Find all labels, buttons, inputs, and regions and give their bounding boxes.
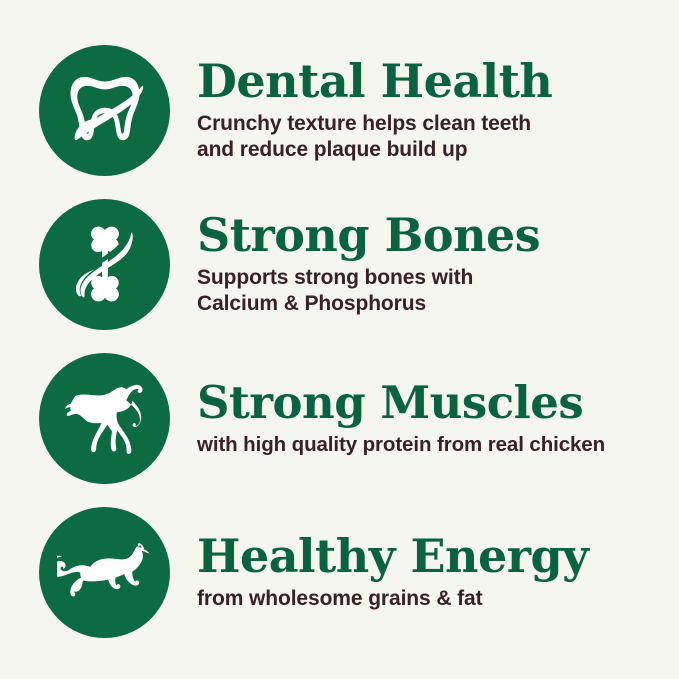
benefit-title: Strong Muscles [197,379,669,427]
benefit-description-line: from wholesome grains & fat [197,586,669,612]
benefit-description-line: and reduce plaque build up [197,137,669,163]
benefit-title: Healthy Energy [197,532,669,581]
tooth-leaf-icon [63,68,147,152]
tooth-leaf-icon-badge [39,45,170,176]
benefit-description: Crunchy texture helps clean teeth and re… [197,111,669,164]
benefit-text-strong-muscles: Strong Muscles with high quality protein… [197,379,679,457]
benefit-description-line: Crunchy texture helps clean teeth [197,111,669,137]
benefits-panel: Dental Health Crunchy texture helps clea… [0,0,679,679]
standing-dog-icon-badge [39,353,170,484]
benefit-item-healthy-energy: Healthy Energy from wholesome grains & f… [0,495,679,649]
benefit-item-strong-muscles: Strong Muscles with high quality protein… [0,341,679,495]
bone-leaf-icon [63,222,147,306]
leaping-dog-icon-badge [39,507,170,638]
benefit-text-dental-health: Dental Health Crunchy texture helps clea… [197,57,679,163]
benefit-text-healthy-energy: Healthy Energy from wholesome grains & f… [197,532,679,612]
benefit-description: from wholesome grains & fat [197,586,669,612]
benefit-description-line: Supports strong bones with [197,265,669,291]
benefit-description: with high quality protein from real chic… [197,432,669,458]
bone-leaf-icon-badge [39,199,170,330]
benefit-description-line: Calcium & Phosphorus [197,291,669,317]
benefit-description-line: with high quality protein from real chic… [197,432,669,458]
benefit-description: Supports strong bones with Calcium & Pho… [197,265,669,318]
leaping-dog-icon [57,524,153,620]
benefit-title: Strong Bones [197,211,669,260]
benefit-item-dental-health: Dental Health Crunchy texture helps clea… [0,33,679,187]
standing-dog-icon [59,372,151,464]
benefit-text-strong-bones: Strong Bones Supports strong bones with … [197,211,679,317]
benefit-title: Dental Health [197,57,669,106]
benefit-item-strong-bones: Strong Bones Supports strong bones with … [0,187,679,341]
